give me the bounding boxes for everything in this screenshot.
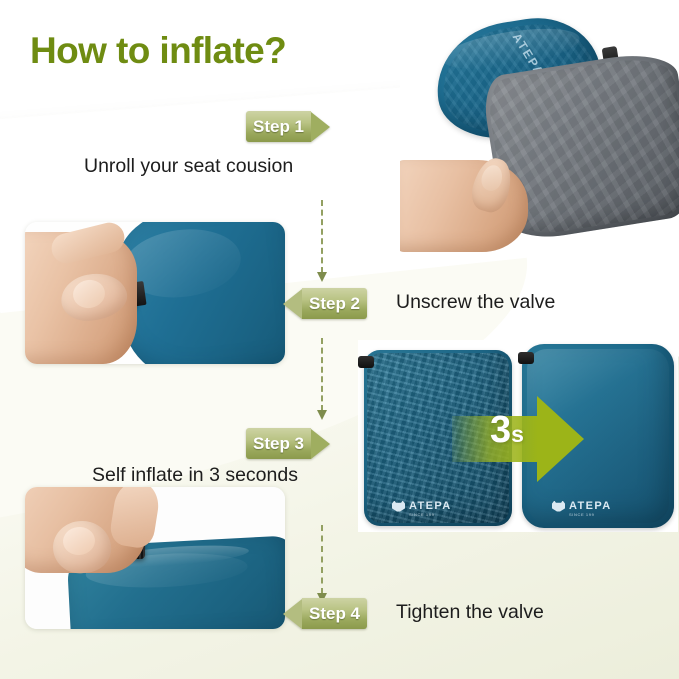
atepa-wordmark: ATEPA [569,500,612,512]
step-1-tag: Step 1 [246,111,330,142]
arrow-left-icon [283,599,302,629]
step-1-tag-label: Step 1 [246,111,311,142]
atepa-mark-icon [392,501,405,512]
step-4-tag: Step 4 [283,598,367,629]
atepa-brand-logo: ATEPA SINCE 199 [552,500,612,512]
arrow-right-icon [537,396,584,482]
step-2-caption: Unscrew the valve [396,291,555,314]
photo-tighten-valve [25,487,285,629]
connector-line [321,200,323,273]
step-3-tag-label: Step 3 [246,428,311,459]
atepa-brand-logo: ATEPA SINCE 199 [392,500,452,512]
step-1-caption: Unroll your seat cousion [84,155,293,178]
atepa-wordmark: ATEPA [409,500,452,512]
step-4-tag-label: Step 4 [302,598,367,629]
step-4-caption: Tighten the valve [396,601,544,624]
connector-step1-to-step2 [317,200,327,282]
step-3-tag: Step 3 [246,428,330,459]
connector-line [321,338,323,411]
photo-rolled-cushion-in-hand: ATEPA [400,0,679,252]
photo-unscrew-valve [25,222,285,364]
seconds-unit: s [511,421,524,447]
arrow-down-icon [317,410,327,420]
page-title: How to inflate? [30,30,286,72]
atepa-mark-icon [552,501,565,512]
valve-icon [518,352,534,364]
atepa-tagline: SINCE 199 [409,512,434,517]
arrow-right-icon [311,112,330,142]
atepa-tagline: SINCE 199 [569,512,594,517]
valve-icon [358,356,374,368]
step-2-tag-label: Step 2 [302,288,367,319]
three-second-label: 3s [490,411,524,449]
step-3-caption: Self inflate in 3 seconds [92,464,298,487]
arrow-right-icon [311,429,330,459]
seconds-value: 3 [490,409,511,451]
step-2-tag: Step 2 [283,288,367,319]
connector-step2-to-step3 [317,338,327,420]
connector-line [321,525,323,594]
arrow-down-icon [317,272,327,282]
arrow-left-icon [283,289,302,319]
photo-self-inflate: ATEPA SINCE 199 ATEPA SINCE 199 3s [358,340,678,532]
connector-step3-to-step4 [317,525,327,603]
three-second-arrow: 3s [452,396,584,482]
